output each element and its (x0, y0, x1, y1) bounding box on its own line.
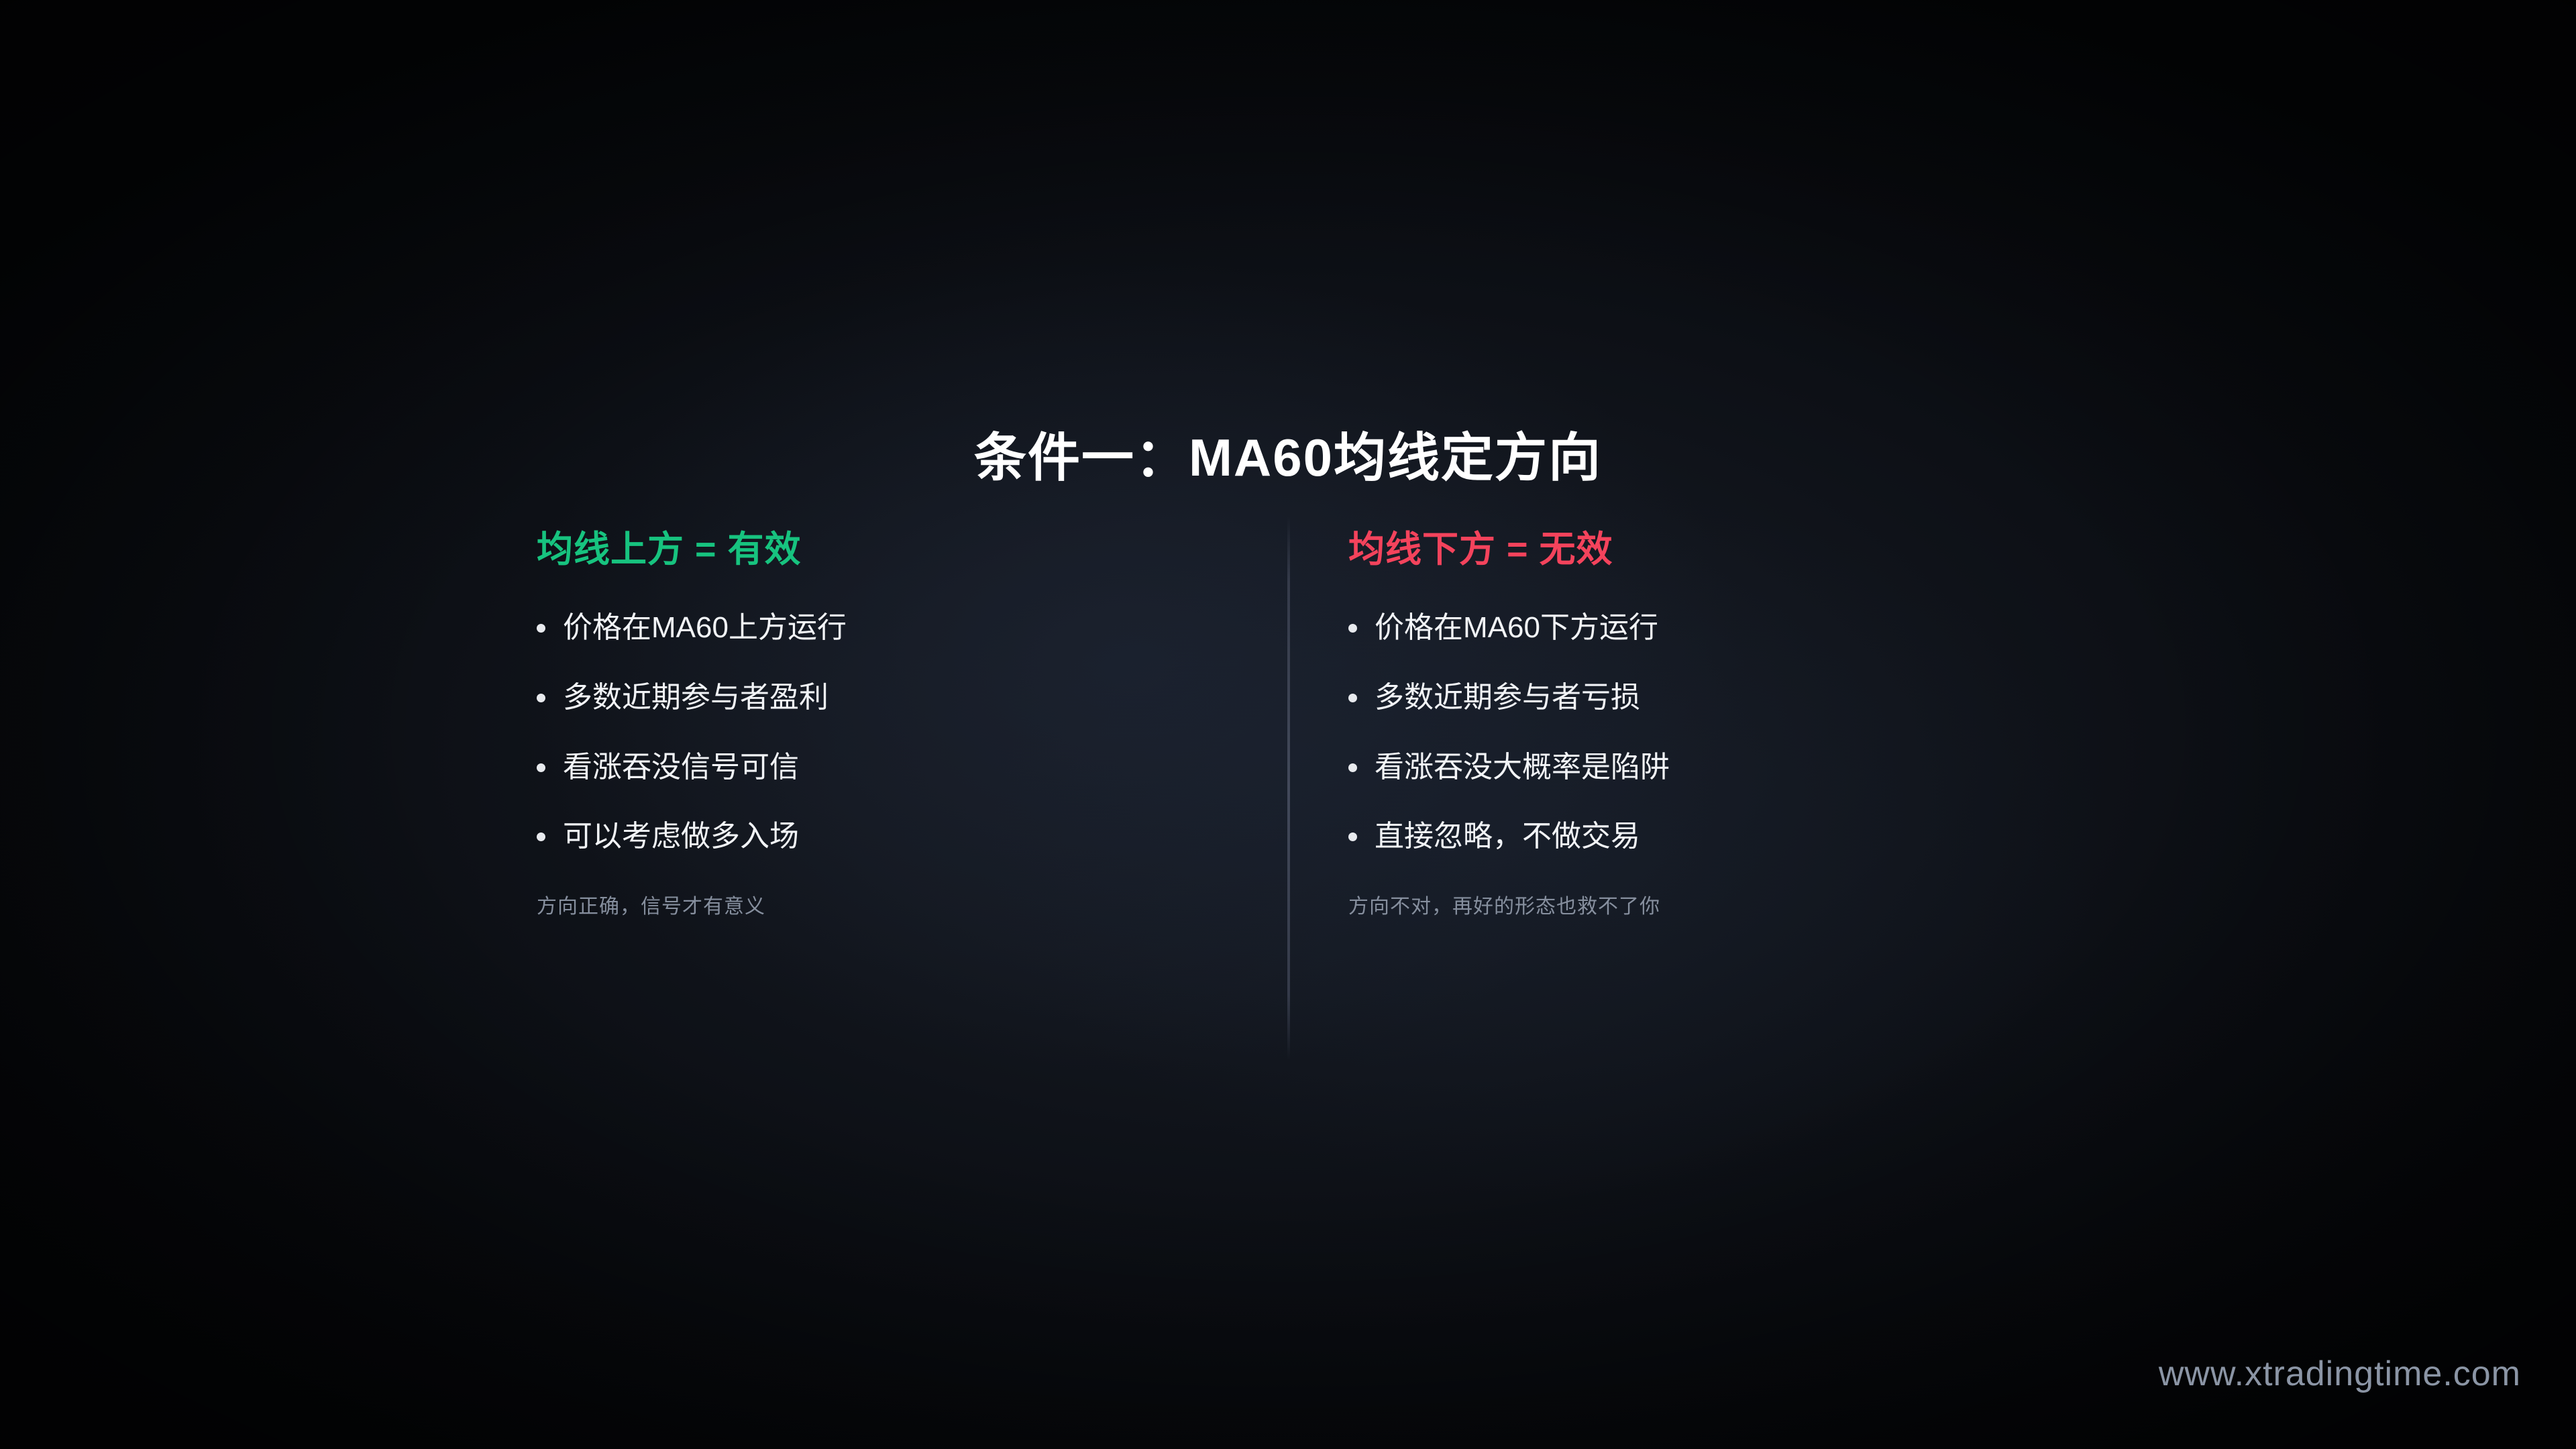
list-item: 价格在MA60下方运行 (1348, 611, 2086, 645)
column-note-below-ma: 方向不对，再好的形态也救不了你 (1348, 890, 2086, 919)
bullet-list-below-ma: 价格在MA60下方运行 多数近期参与者亏损 看涨吞没大概率是陷阱 直接忽略，不做… (1348, 611, 2086, 853)
column-note-above-ma: 方向正确，信号才有意义 (537, 890, 1275, 919)
list-item: 多数近期参与者盈利 (537, 681, 1275, 715)
bullet-dot-icon (1348, 694, 1357, 702)
column-below-ma: 均线下方 = 无效 价格在MA60下方运行 多数近期参与者亏损 看涨吞没大概率是… (1348, 530, 2086, 919)
bullet-dot-icon (537, 833, 545, 841)
slide-root: 条件一：MA60均线定方向 均线上方 = 有效 价格在MA60上方运行 多数近期… (0, 0, 2576, 1449)
list-item-label: 价格在MA60上方运行 (563, 611, 847, 645)
column-divider (1287, 517, 1290, 1060)
list-item: 看涨吞没大概率是陷阱 (1348, 751, 2086, 785)
list-item-label: 多数近期参与者盈利 (563, 681, 828, 715)
bullet-dot-icon (537, 624, 545, 633)
list-item: 直接忽略，不做交易 (1348, 820, 2086, 854)
column-heading-above-ma: 均线上方 = 有效 (537, 530, 1275, 570)
slide-title: 条件一：MA60均线定方向 (0, 416, 2576, 491)
bullet-dot-icon (1348, 833, 1357, 841)
list-item-label: 看涨吞没大概率是陷阱 (1375, 751, 1670, 785)
bullet-dot-icon (1348, 763, 1357, 772)
site-watermark: www.xtradingtime.com (2159, 1354, 2521, 1394)
list-item: 看涨吞没信号可信 (537, 751, 1275, 785)
list-item: 价格在MA60上方运行 (537, 611, 1275, 645)
column-above-ma: 均线上方 = 有效 价格在MA60上方运行 多数近期参与者盈利 看涨吞没信号可信… (537, 530, 1275, 919)
list-item: 可以考虑做多入场 (537, 820, 1275, 854)
list-item-label: 看涨吞没信号可信 (563, 751, 799, 785)
list-item-label: 多数近期参与者亏损 (1375, 681, 1640, 715)
list-item-label: 直接忽略，不做交易 (1375, 820, 1640, 854)
bullet-dot-icon (537, 763, 545, 772)
list-item-label: 价格在MA60下方运行 (1375, 611, 1658, 645)
bullet-dot-icon (1348, 624, 1357, 633)
bullet-list-above-ma: 价格在MA60上方运行 多数近期参与者盈利 看涨吞没信号可信 可以考虑做多入场 (537, 611, 1275, 853)
list-item-label: 可以考虑做多入场 (563, 820, 799, 854)
column-heading-below-ma: 均线下方 = 无效 (1348, 530, 2086, 570)
list-item: 多数近期参与者亏损 (1348, 681, 2086, 715)
bullet-dot-icon (537, 694, 545, 702)
